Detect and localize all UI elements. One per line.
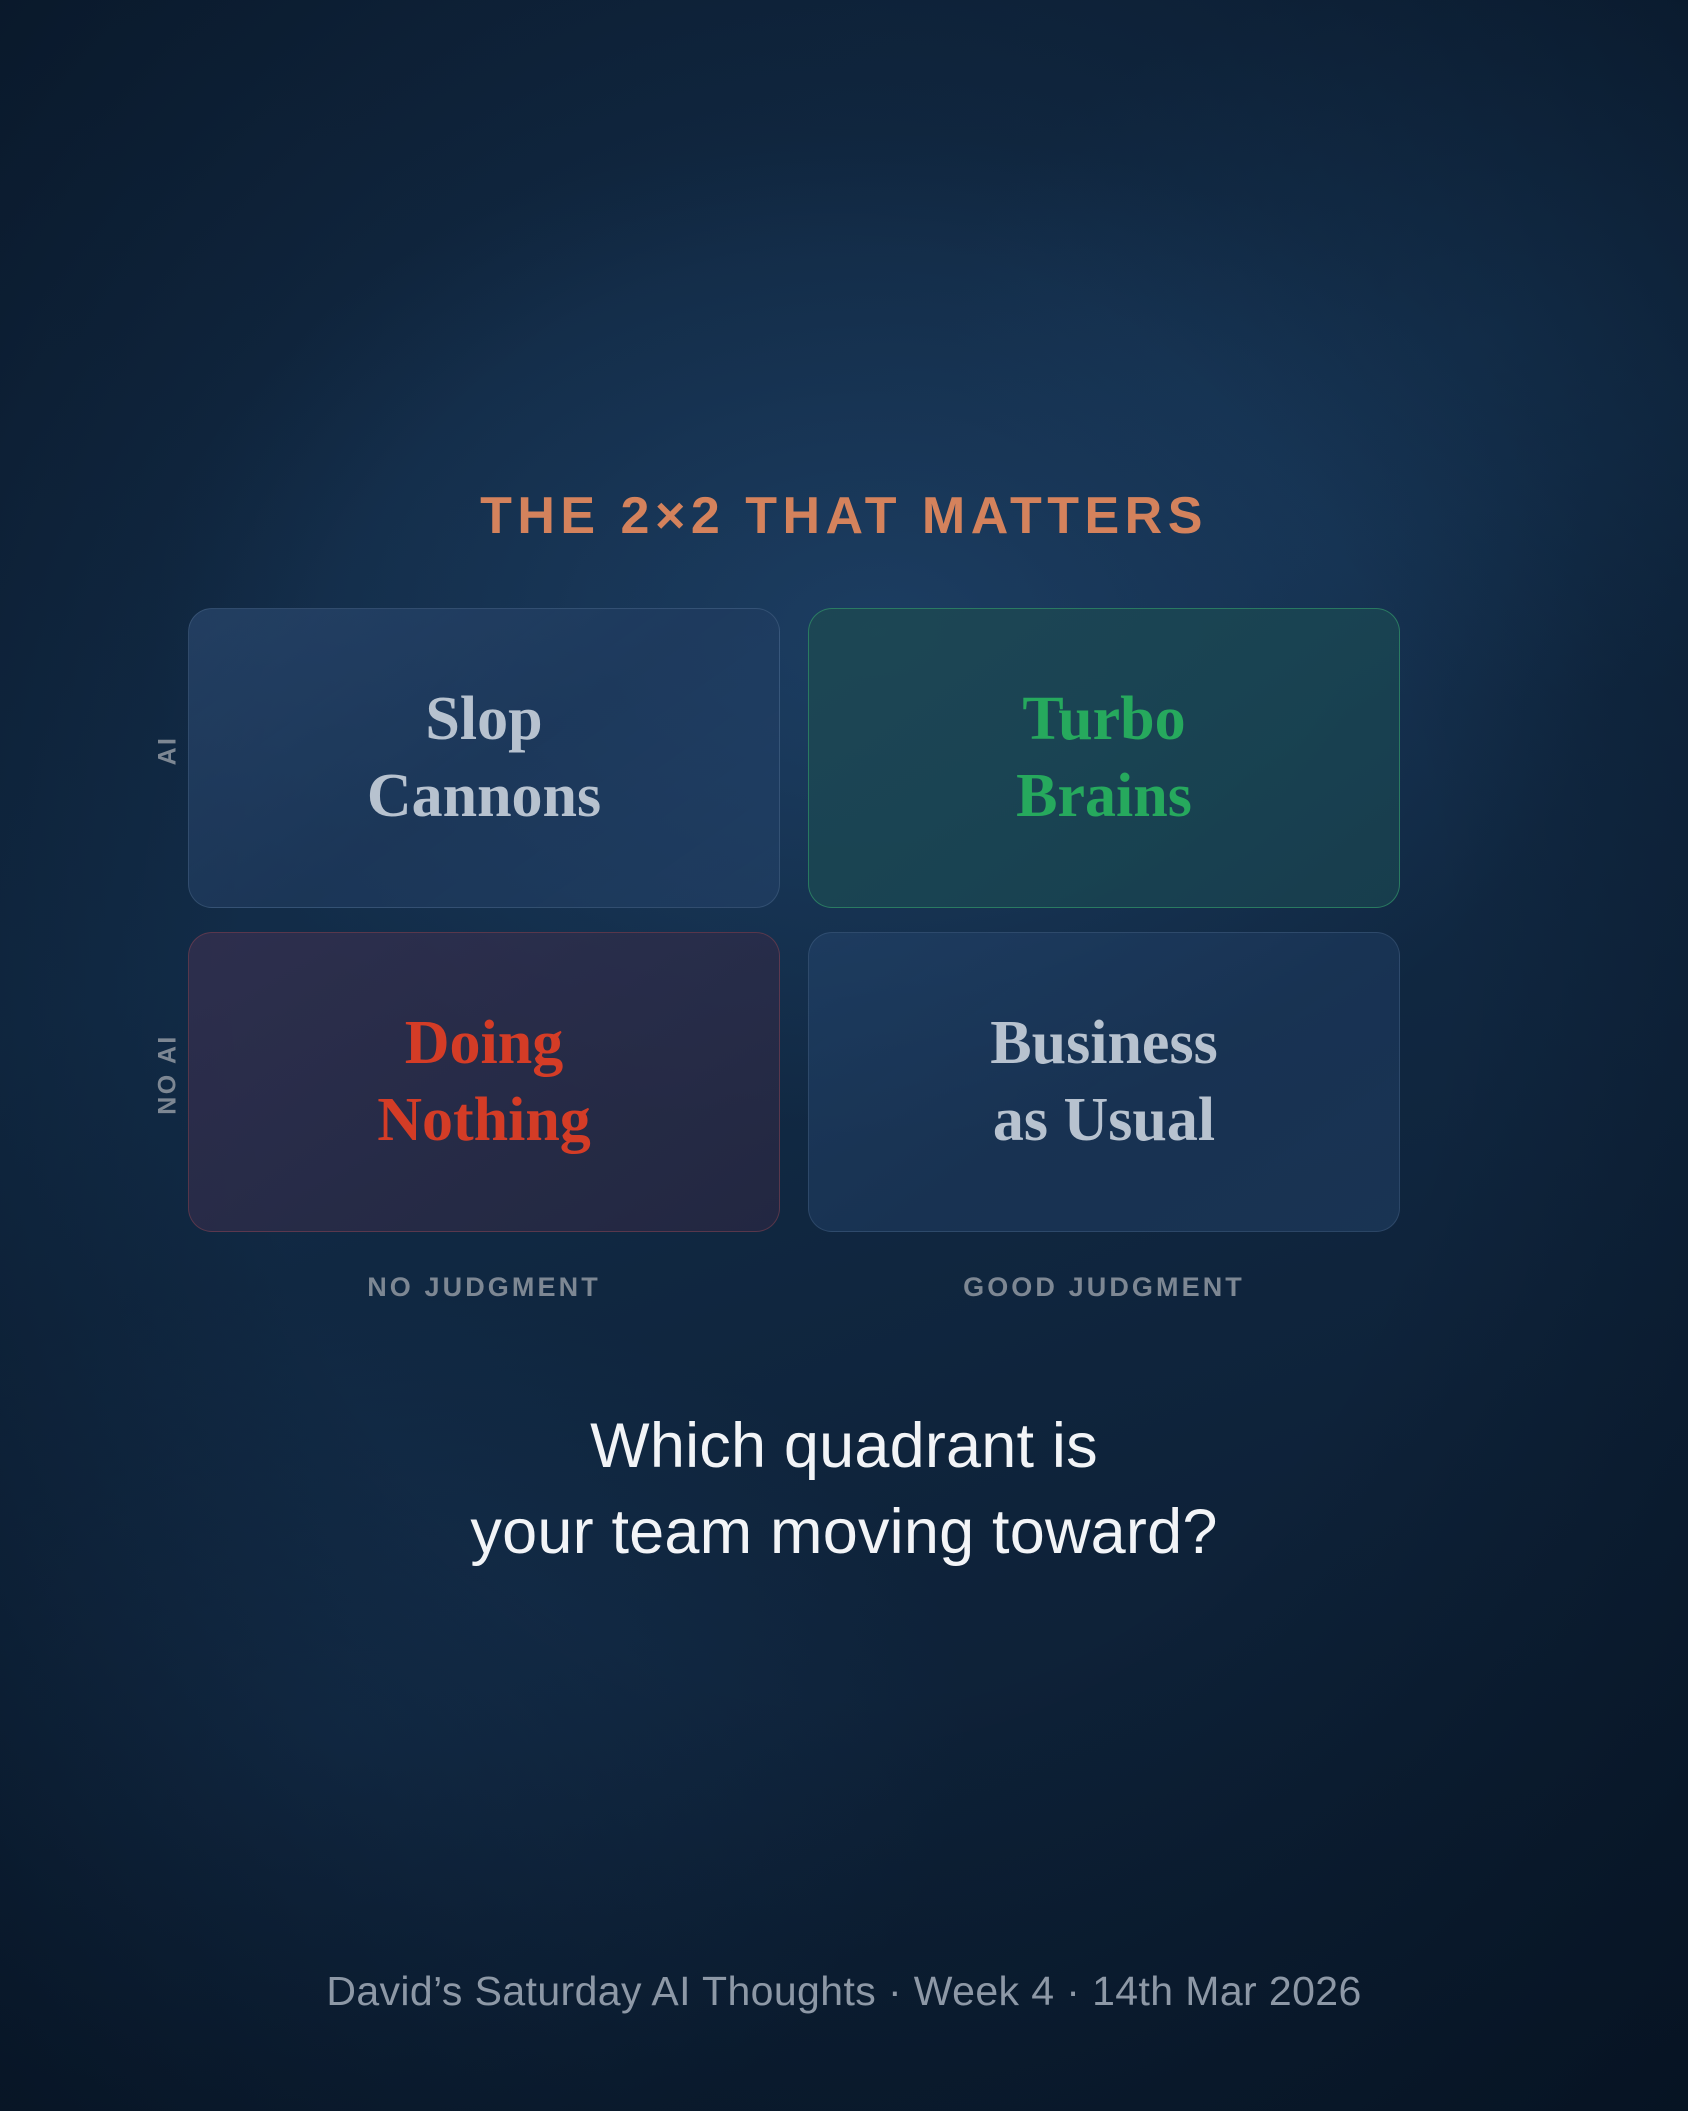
quadrant-label-line2: Brains bbox=[1016, 758, 1192, 835]
quadrant-label-line1: Slop bbox=[425, 681, 542, 758]
quadrant-label-line1: Business bbox=[990, 1005, 1217, 1082]
quadrant-label-line2: as Usual bbox=[993, 1082, 1215, 1159]
quadrant-label-line1: Turbo bbox=[1022, 681, 1185, 758]
quadrant-card-business-as-usual[interactable]: Business as Usual bbox=[808, 932, 1400, 1232]
quadrant-card-turbo-brains[interactable]: Turbo Brains bbox=[808, 608, 1400, 908]
closing-question-line1: Which quadrant is bbox=[0, 1404, 1688, 1490]
poster-canvas: THE 2×2 THAT MATTERS AI NO AI Slop Canno… bbox=[0, 0, 1688, 2111]
footer-attribution: David’s Saturday AI Thoughts · Week 4 · … bbox=[0, 1968, 1688, 2015]
axis-column-labels: NO JUDGMENT GOOD JUDGMENT bbox=[188, 1272, 1400, 1303]
axis-row-label-no-ai: NO AI bbox=[154, 995, 183, 1155]
axis-column-label-good-judgment: GOOD JUDGMENT bbox=[808, 1272, 1400, 1303]
page-title: THE 2×2 THAT MATTERS bbox=[0, 486, 1688, 546]
quadrant-grid: Slop Cannons Turbo Brains Doing Nothing … bbox=[188, 608, 1400, 1232]
closing-question-line2: your team moving toward? bbox=[0, 1490, 1688, 1576]
quadrant-label-line1: Doing bbox=[405, 1005, 563, 1082]
quadrant-label-line2: Nothing bbox=[377, 1082, 591, 1159]
quadrant-matrix: AI NO AI Slop Cannons Turbo Brains Doing… bbox=[188, 608, 1400, 1303]
closing-question: Which quadrant is your team moving towar… bbox=[0, 1404, 1688, 1575]
quadrant-label-line2: Cannons bbox=[367, 758, 601, 835]
axis-row-label-ai: AI bbox=[154, 671, 183, 831]
quadrant-card-slop-cannons[interactable]: Slop Cannons bbox=[188, 608, 780, 908]
axis-column-label-no-judgment: NO JUDGMENT bbox=[188, 1272, 780, 1303]
quadrant-card-doing-nothing[interactable]: Doing Nothing bbox=[188, 932, 780, 1232]
